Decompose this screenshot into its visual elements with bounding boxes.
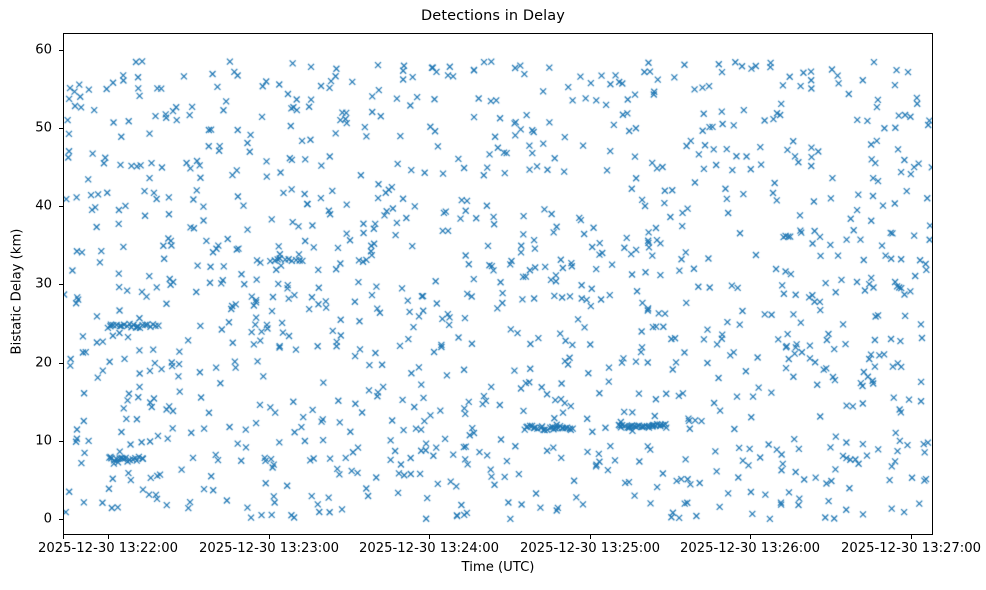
x-tick-mark: [911, 535, 912, 539]
y-tick-mark: [59, 206, 63, 207]
y-tick-mark: [59, 519, 63, 520]
y-tick-label: 20: [0, 356, 52, 371]
y-tick-label: 10: [0, 434, 52, 449]
x-tick-label: 2025-12-30 13:22:00: [38, 541, 178, 556]
x-tick-label: 2025-12-30 13:23:00: [199, 541, 339, 556]
y-tick-label: 30: [0, 277, 52, 292]
x-tick-label: 2025-12-30 13:26:00: [680, 541, 820, 556]
x-tick-mark: [269, 535, 270, 539]
plot-area: [63, 33, 933, 535]
y-tick-mark: [59, 363, 63, 364]
y-tick-label: 60: [0, 43, 52, 58]
x-tick-label: 2025-12-30 13:25:00: [520, 541, 660, 556]
x-tick-mark: [63, 535, 64, 539]
x-tick-label: 2025-12-30 13:27:00: [841, 541, 981, 556]
x-axis-label: Time (UTC): [63, 560, 933, 575]
x-tick-mark: [750, 535, 751, 539]
matplotlib-figure: Detections in Delay 2025-12-30 13:22:00 …: [0, 0, 986, 590]
y-tick-mark: [59, 50, 63, 51]
page-title: Detections in Delay: [0, 8, 986, 24]
x-tick-mark: [429, 535, 430, 539]
y-axis-label: Bistatic Delay (km): [10, 152, 25, 432]
y-tick-label: 0: [0, 512, 52, 527]
y-tick-mark: [59, 128, 63, 129]
y-tick-mark: [59, 284, 63, 285]
x-tick-mark: [590, 535, 591, 539]
x-tick-mark: [108, 535, 109, 539]
x-tick-label: 2025-12-30 13:24:00: [359, 541, 499, 556]
y-tick-mark: [59, 441, 63, 442]
y-tick-label: 40: [0, 199, 52, 214]
scatter-points-canvas: [64, 34, 933, 535]
y-tick-label: 50: [0, 121, 52, 136]
